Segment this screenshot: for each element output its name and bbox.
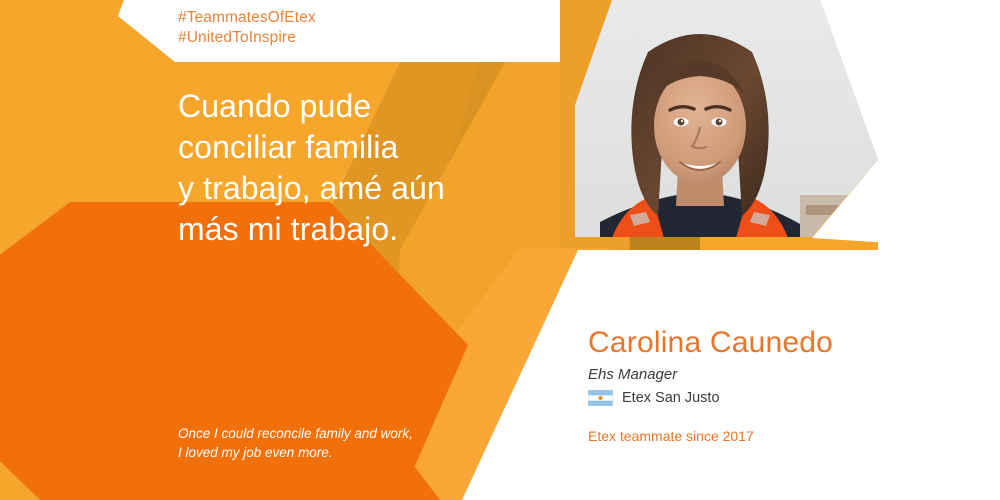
person-site-label: Etex San Justo [622,389,720,407]
person-details: Carolina Caunedo Ehs Manager Etex San Ju… [588,326,988,407]
campaign-hashtags: #TeammatesOfEtex #UnitedToInspire [178,8,316,47]
person-name: Carolina Caunedo [588,326,988,360]
argentina-flag-icon [588,390,613,406]
quote-original: Cuando pude conciliar familia y trabajo,… [178,86,445,250]
person-tenure: Etex teammate since 2017 [588,427,754,445]
etex-teammate-card: #TeammatesOfEtex #UnitedToInspire Cuando… [0,0,1000,500]
background-graphic [0,0,1000,500]
person-site: Etex San Justo [588,389,988,407]
person-role: Ehs Manager [588,364,988,386]
quote-translation: Once I could reconcile family and work, … [178,424,413,462]
